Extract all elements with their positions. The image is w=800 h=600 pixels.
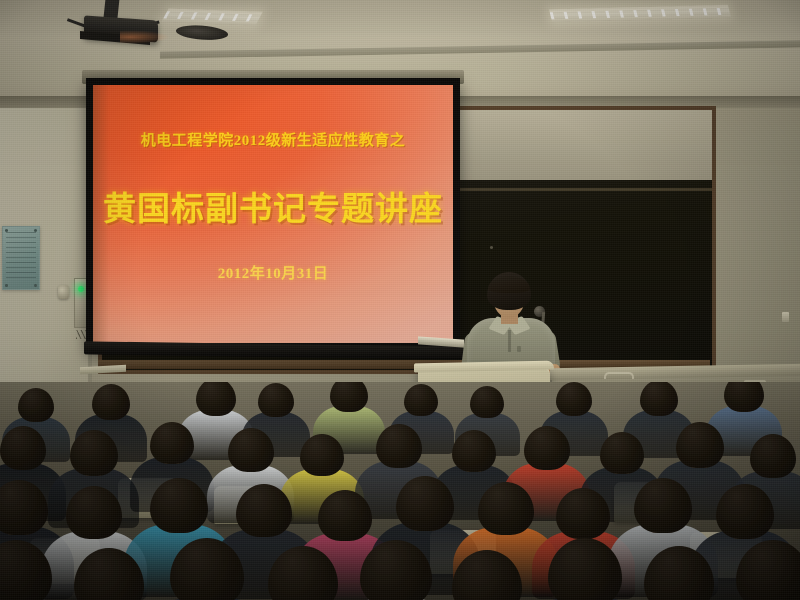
audience-member-head (376, 424, 422, 468)
audience-member-head (556, 488, 610, 539)
wall-knob[interactable] (58, 285, 69, 299)
chalk-speck (490, 246, 493, 249)
projector-beam-glow (120, 30, 170, 44)
audience-member-head (478, 482, 534, 535)
presenter-shirt-pocket (517, 346, 521, 352)
audience-member-head (634, 478, 692, 533)
projection-screen: 机电工程学院2012级新生适应性教育之 黄国标副书记专题讲座 2012年10月3… (86, 78, 460, 350)
projected-slide: 机电工程学院2012级新生适应性教育之 黄国标副书记专题讲座 2012年10月3… (93, 85, 453, 343)
audience-member-head (330, 382, 368, 412)
plaque-screw (5, 284, 8, 287)
audience-member-head (18, 388, 54, 422)
plaque-text-lines (6, 232, 36, 280)
audience-member-head (716, 484, 774, 539)
audience-member-head (600, 432, 644, 474)
plaque-screw (5, 229, 8, 232)
audience-member-head (318, 490, 372, 541)
audience-member-head (404, 384, 438, 416)
plaque-screw (34, 229, 37, 232)
audience-member-head (236, 484, 292, 537)
presenter-shirt-placket (508, 330, 511, 352)
audience-member-head (452, 430, 496, 472)
light-diffuser-right (550, 8, 731, 19)
wall-notice-plaque (2, 226, 40, 290)
audience (0, 382, 800, 600)
audience-member-head (228, 428, 274, 472)
slide-title: 黄国标副书记专题讲座 (93, 182, 453, 230)
audience-member-head (150, 478, 208, 533)
audience-member-head (196, 382, 236, 416)
audience-member-head (0, 426, 46, 470)
wall-outlet-icon (782, 312, 789, 322)
audience-member-head (300, 434, 344, 476)
audience-member-head (150, 422, 194, 464)
audience-member-head (70, 430, 118, 476)
audience-member-head (724, 382, 764, 412)
audience-member-head (750, 434, 796, 478)
audience-member-head (556, 382, 592, 416)
desk-handle-icon (604, 372, 634, 379)
status-led-icon (78, 286, 84, 292)
slide-subtitle: 机电工程学院2012级新生适应性教育之 (93, 129, 453, 150)
plaque-screw (34, 284, 37, 287)
audience-member-head (66, 486, 122, 539)
audience-member-head (640, 382, 678, 416)
audience-member-head (396, 476, 454, 531)
audience-member-head (258, 383, 294, 417)
audience-member-head (676, 422, 724, 468)
audience-member-head (470, 386, 504, 418)
audience-member-head (92, 384, 130, 420)
presenter (455, 272, 565, 372)
audience-member-head (524, 426, 570, 470)
lecture-hall-photo: 机电工程学院2012级新生适应性教育之 黄国标副书记专题讲座 2012年10月3… (0, 0, 800, 600)
slide-date: 2012年10月31日 (93, 262, 453, 283)
light-diffuser-left (163, 11, 261, 21)
